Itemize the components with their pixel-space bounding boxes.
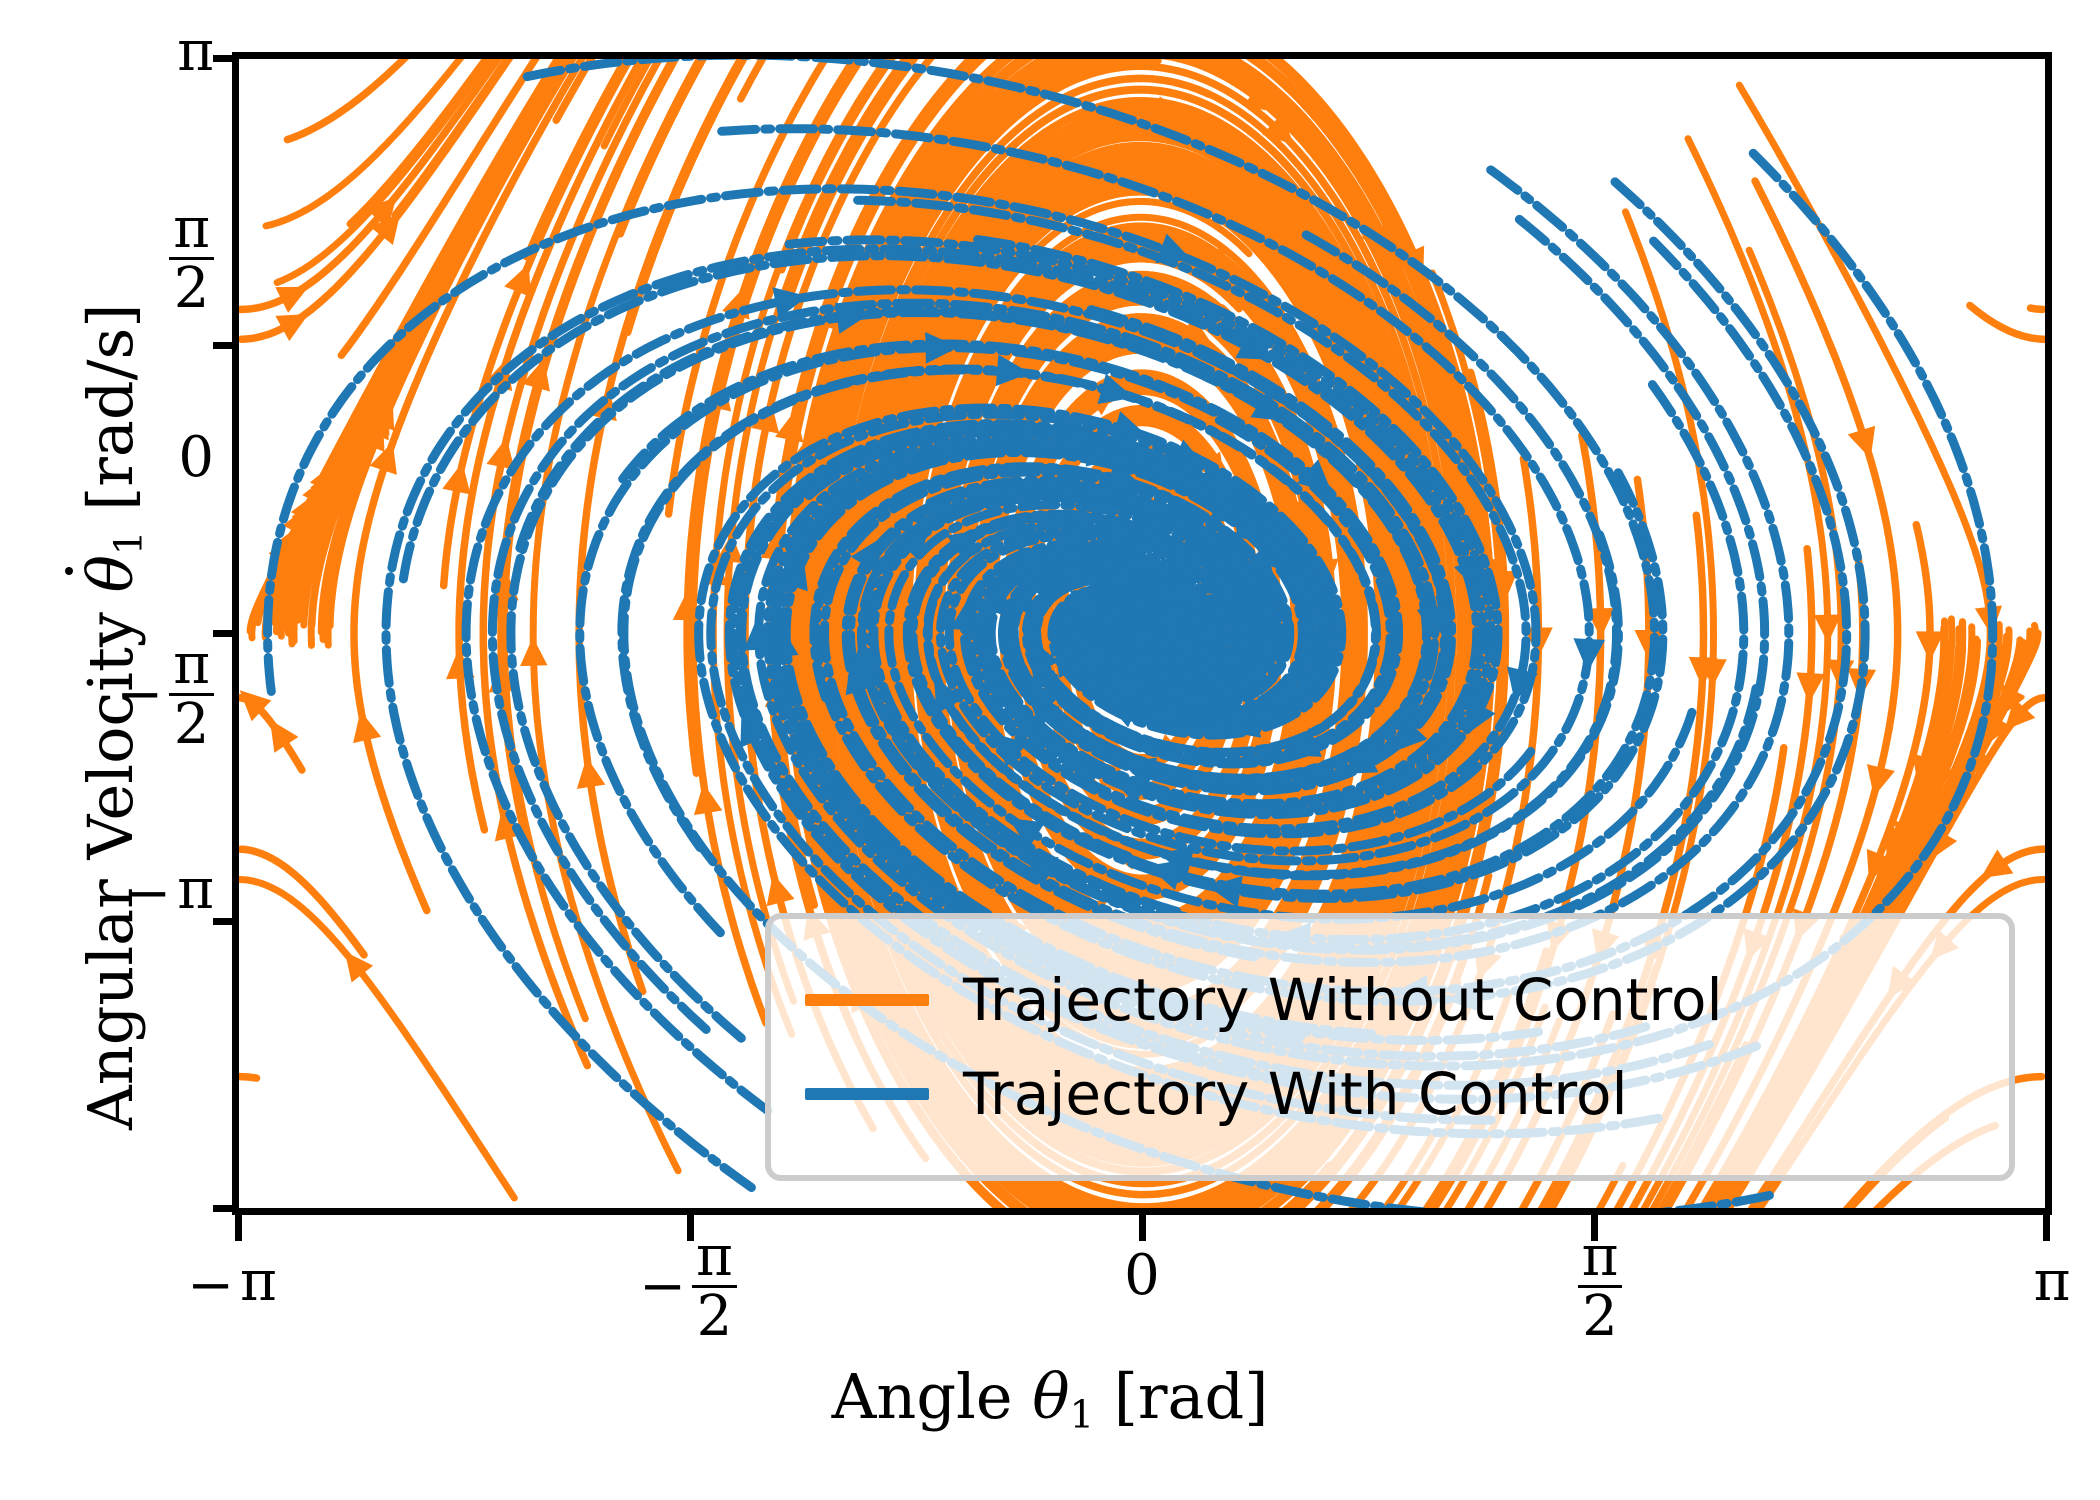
legend-label-without-control: Trajectory Without Control (963, 966, 1723, 1034)
x-axis-title-text: Angle (832, 1360, 1033, 1433)
x-tick-mark-pi-over-2 (1591, 1215, 1598, 1241)
x-tick-label-neg-pi: −π (152, 1254, 312, 1314)
x-tick-mark-zero (1139, 1215, 1146, 1241)
x-tick-label-pi: π (1972, 1254, 2100, 1310)
legend-item-without-control[interactable]: Trajectory Without Control (805, 966, 2009, 1034)
y-tick-label-zero: 0 (150, 430, 214, 486)
y-tick-label-neg-pi: −π (108, 862, 214, 922)
y-tick-mark-zero (213, 630, 239, 637)
legend-item-with-control[interactable]: Trajectory With Control (805, 1060, 2009, 1128)
legend-swatch-with-control (805, 1088, 929, 1100)
x-tick-label-zero: 0 (1062, 1248, 1222, 1304)
y-tick-label-pi-over-2: π2 (150, 200, 214, 317)
x-tick-label-neg-pi-over-2: −π2 (608, 1228, 768, 1345)
y-tick-mark-neg-pi-over-2 (213, 918, 239, 925)
y-tick-mark-neg-pi (213, 1205, 239, 1212)
y-tick-mark-pi (213, 55, 239, 62)
y-axis-symbol: θ (74, 555, 147, 592)
y-tick-mark-pi-over-2 (213, 342, 239, 349)
x-tick-mark-pi (2043, 1215, 2050, 1241)
x-tick-mark-neg-pi-over-2 (687, 1215, 694, 1241)
y-axis-subscript: 1 (107, 531, 152, 555)
y-tick-label-neg-pi-over-2: −π2 (108, 636, 214, 753)
legend-swatch-without-control (805, 994, 929, 1006)
legend[interactable]: Trajectory Without Control Trajectory Wi… (765, 913, 2015, 1181)
x-axis-units: [rad] (1094, 1360, 1268, 1433)
y-tick-label-pi: π (150, 24, 214, 80)
y-axis-units: [rad/s] (74, 304, 147, 531)
x-tick-label-pi-over-2: π2 (1520, 1228, 1680, 1345)
x-tick-mark-neg-pi (235, 1215, 242, 1241)
x-axis-subscript: 1 (1070, 1393, 1094, 1438)
legend-label-with-control: Trajectory With Control (963, 1060, 1628, 1128)
figure-root: Angular Velocity θ1 [rad/s] Angle θ1 [ra… (0, 0, 2100, 1500)
x-axis-symbol: θ (1032, 1360, 1069, 1433)
x-axis-title: Angle θ1 [rad] (0, 1360, 2100, 1438)
